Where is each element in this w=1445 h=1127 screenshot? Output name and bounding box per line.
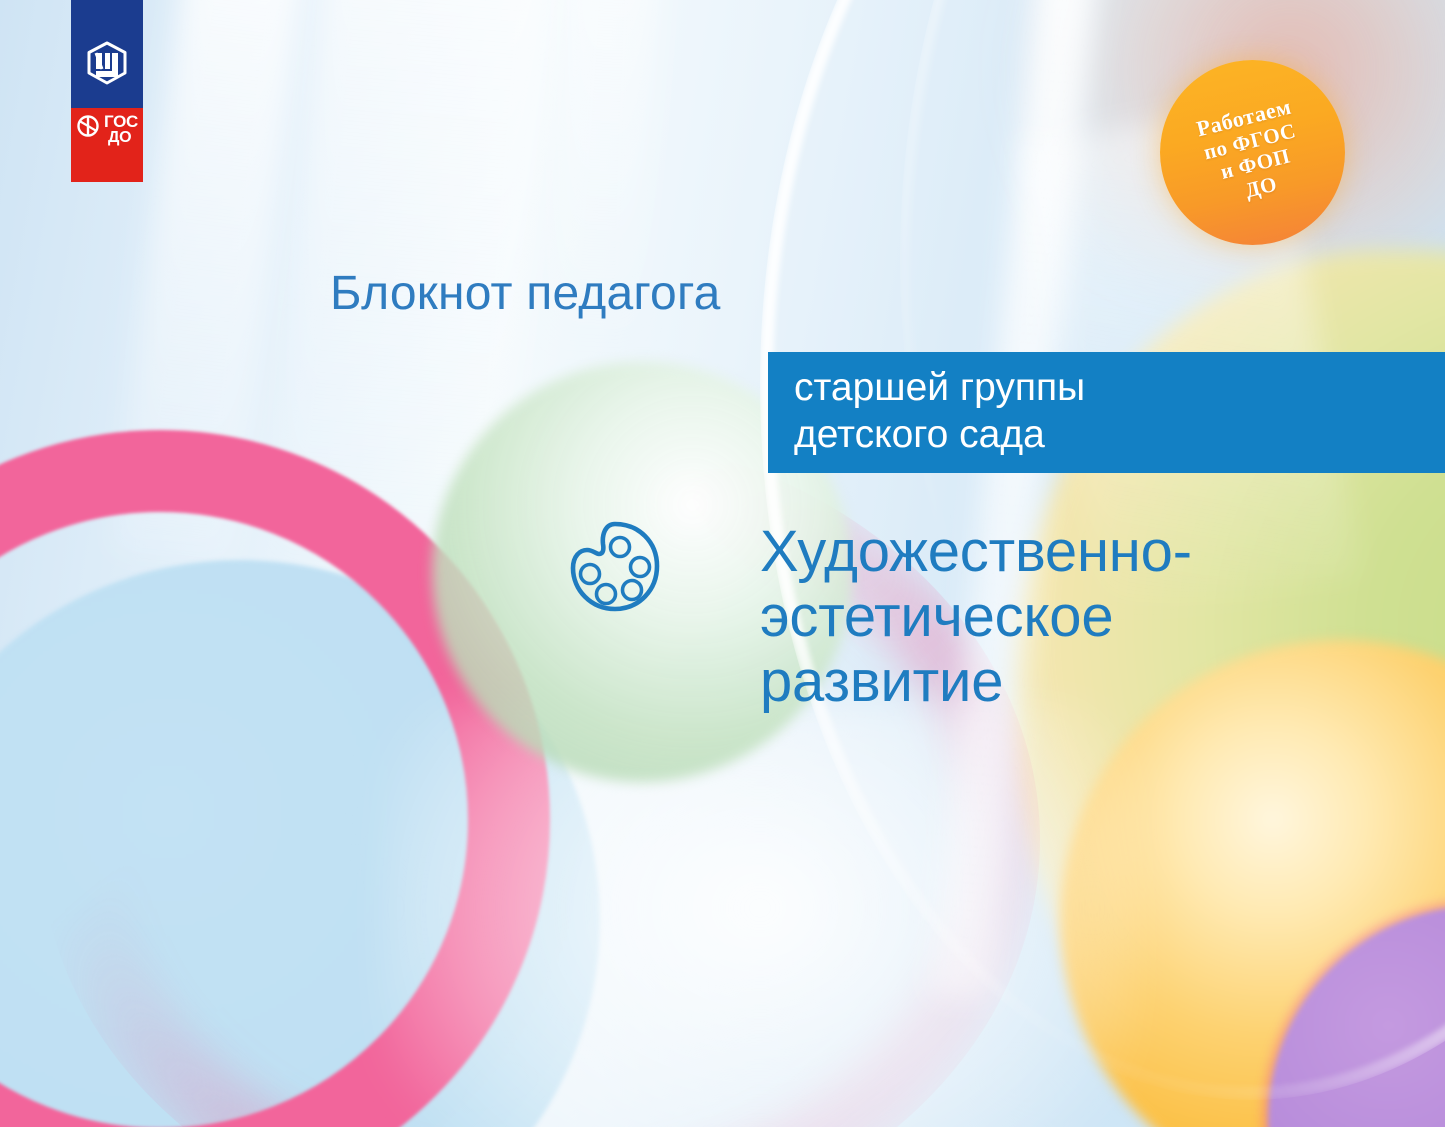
banner-line-2: детского сада (768, 411, 1445, 458)
badge-line-4: ДО (1243, 172, 1280, 203)
publisher-mark-icon (85, 40, 129, 91)
subject-line-2: эстетическое (760, 584, 1320, 649)
book-cover: ГОС ДО Работаем по ФГОС и ФОП ДО Блокнот… (0, 0, 1445, 1127)
fgos-emblem-icon (76, 112, 102, 147)
palette-icon (558, 512, 670, 624)
subject-line-1: Художественно- (760, 519, 1320, 584)
banner-line-1: старшей группы (768, 352, 1445, 411)
fgos-line-1: ГОС (104, 114, 138, 130)
series-title: Блокнот педагога (330, 266, 721, 321)
fgos-fop-badge: Работаем по ФГОС и ФОП ДО (1160, 60, 1345, 245)
age-group-banner: старшей группы детского сада (768, 352, 1445, 473)
publisher-logo: ГОС ДО (71, 0, 143, 182)
fgos-line-2: ДО (104, 130, 138, 145)
subject-line-3: развитие (760, 649, 1320, 714)
fgos-logo: ГОС ДО (71, 112, 143, 147)
subject-title: Художественно- эстетическое развитие (760, 519, 1320, 714)
